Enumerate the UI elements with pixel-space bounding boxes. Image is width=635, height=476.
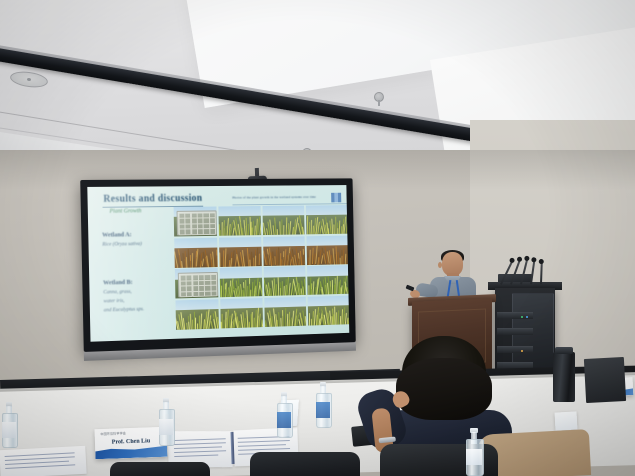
printed-booklet[interactable]	[0, 446, 87, 476]
slide-photo	[264, 297, 306, 327]
slide-photo	[262, 206, 304, 236]
chair[interactable]	[250, 452, 360, 476]
bottle-label	[466, 449, 482, 465]
water-bottle[interactable]	[277, 392, 291, 438]
bottle-label	[2, 422, 16, 438]
wetland-a-sub: Rice (Oryza sativa)	[102, 241, 142, 248]
attendee-watch	[379, 437, 396, 444]
slide-title: Results and discussion	[103, 193, 202, 205]
nameplate-org-line: 中国环境科学学会	[100, 430, 161, 438]
slide-surface: Results and discussion Plant Growth Phot…	[87, 185, 349, 342]
bottle-label	[159, 419, 173, 435]
slide-photo	[263, 236, 305, 266]
chair[interactable]	[110, 462, 210, 476]
wetland-a-title: Wetland A:	[102, 231, 132, 238]
acrylic-tent-card[interactable]	[555, 411, 578, 430]
slide-photo	[263, 266, 305, 296]
water-bottle[interactable]	[159, 398, 173, 446]
thermos-flask[interactable]	[553, 352, 575, 402]
bottle-label	[277, 412, 291, 428]
nameplate-wave-graphic	[95, 444, 167, 459]
booklet-page	[0, 446, 87, 476]
slide-photo	[175, 268, 219, 299]
nameplate-prof-chen-liu[interactable]: 中国环境科学学会 Prof. Chen Liu	[94, 427, 167, 459]
sprinkler-icon	[374, 92, 384, 102]
attendee-hair	[396, 358, 492, 420]
wetland-b-sub: Canna, grass,	[103, 289, 132, 296]
slide-photo	[174, 237, 218, 267]
institution-logo-icon	[331, 193, 341, 203]
wetland-b-sub3: and Eucalyptus sps.	[104, 306, 145, 313]
water-bottle[interactable]	[466, 428, 482, 476]
water-bottle[interactable]	[2, 402, 16, 448]
slide-photo	[307, 265, 349, 295]
slide-photo	[220, 298, 263, 329]
status-led-icon	[521, 316, 523, 318]
slide-photo	[306, 235, 348, 265]
slide-photo-grid	[174, 205, 350, 330]
slide-photo	[218, 206, 261, 236]
slide-photo	[219, 267, 262, 297]
nameplate-name: Prof. Chen Liu	[95, 438, 167, 447]
bottle-label	[316, 402, 330, 418]
presenter-ear	[438, 262, 442, 268]
slide-photo	[175, 299, 219, 330]
rack-unit	[497, 328, 533, 335]
conference-room-scene: Results and discussion Plant Growth Phot…	[0, 0, 635, 476]
slide-subtitle: Plant Growth	[109, 208, 141, 214]
slide-photo	[219, 237, 262, 267]
slide-photo	[307, 296, 349, 326]
laptop[interactable]	[584, 357, 626, 403]
water-bottle[interactable]	[316, 382, 330, 428]
wetland-b-title: Wetland B:	[103, 279, 133, 287]
slide-label-wetland-a: Wetland A: Rice (Oryza sativa)	[102, 230, 142, 250]
slide-label-wetland-b: Wetland B: Canna, grass, water iris, and…	[103, 278, 144, 316]
slide-photo	[174, 207, 218, 237]
slide-caption-header: Photos of the plant growth in the wetlan…	[232, 195, 345, 200]
projection-screen[interactable]: Results and discussion Plant Growth Phot…	[80, 178, 356, 352]
status-led-icon	[526, 316, 528, 318]
slide-photo	[305, 205, 347, 234]
wetland-b-sub2: water iris,	[103, 298, 124, 305]
